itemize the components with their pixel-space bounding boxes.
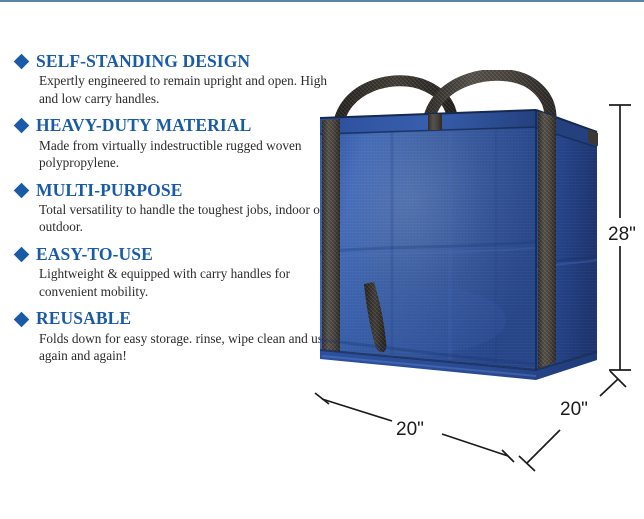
dim-width-tick-right bbox=[502, 450, 514, 462]
dim-depth-line-lower bbox=[527, 430, 560, 463]
feature-item-heavy-duty-material: HEAVY-DUTY MATERIAL Made from virtually … bbox=[14, 116, 334, 171]
dim-width-line-right bbox=[442, 434, 508, 456]
feature-title: SELF-STANDING DESIGN bbox=[36, 52, 250, 71]
feature-description: Made from virtually indestructible rugge… bbox=[39, 137, 334, 172]
diamond-bullet-icon bbox=[14, 54, 30, 70]
feature-description: Folds down for easy storage. rinse, wipe… bbox=[39, 330, 334, 365]
diamond-bullet-icon bbox=[14, 183, 30, 199]
feature-heading-row: HEAVY-DUTY MATERIAL bbox=[14, 116, 334, 135]
dim-depth-tick-lower bbox=[519, 456, 535, 471]
feature-title: HEAVY-DUTY MATERIAL bbox=[36, 116, 251, 135]
diamond-bullet-icon bbox=[14, 311, 30, 327]
diamond-bullet-icon bbox=[14, 247, 30, 263]
diamond-bullet-icon bbox=[14, 118, 30, 134]
feature-heading-row: REUSABLE bbox=[14, 309, 334, 328]
feature-description: Expertly engineered to remain upright an… bbox=[39, 72, 334, 107]
feature-description: Total versatility to handle the toughest… bbox=[39, 201, 334, 236]
dimension-label-depth: 20" bbox=[560, 399, 588, 421]
feature-heading-row: SELF-STANDING DESIGN bbox=[14, 52, 334, 71]
top-divider-rule bbox=[0, 0, 644, 2]
feature-list: SELF-STANDING DESIGN Expertly engineered… bbox=[14, 52, 334, 374]
feature-title: EASY-TO-USE bbox=[36, 245, 153, 264]
feature-title: MULTI-PURPOSE bbox=[36, 181, 183, 200]
dimension-label-width: 20" bbox=[396, 419, 424, 441]
infographic-canvas: SELF-STANDING DESIGN Expertly engineered… bbox=[0, 0, 644, 519]
feature-item-easy-to-use: EASY-TO-USE Lightweight & equipped with … bbox=[14, 245, 334, 300]
feature-heading-row: MULTI-PURPOSE bbox=[14, 181, 334, 200]
feature-item-multi-purpose: MULTI-PURPOSE Total versatility to handl… bbox=[14, 181, 334, 236]
feature-item-self-standing-design: SELF-STANDING DESIGN Expertly engineered… bbox=[14, 52, 334, 107]
feature-title: REUSABLE bbox=[36, 309, 131, 328]
feature-description: Lightweight & equipped with carry handle… bbox=[39, 265, 334, 300]
dimension-label-height: 28" bbox=[608, 224, 636, 246]
product-photo-tote-bag bbox=[300, 70, 620, 415]
feature-heading-row: EASY-TO-USE bbox=[14, 245, 334, 264]
feature-item-reusable: REUSABLE Folds down for easy storage. ri… bbox=[14, 309, 334, 364]
